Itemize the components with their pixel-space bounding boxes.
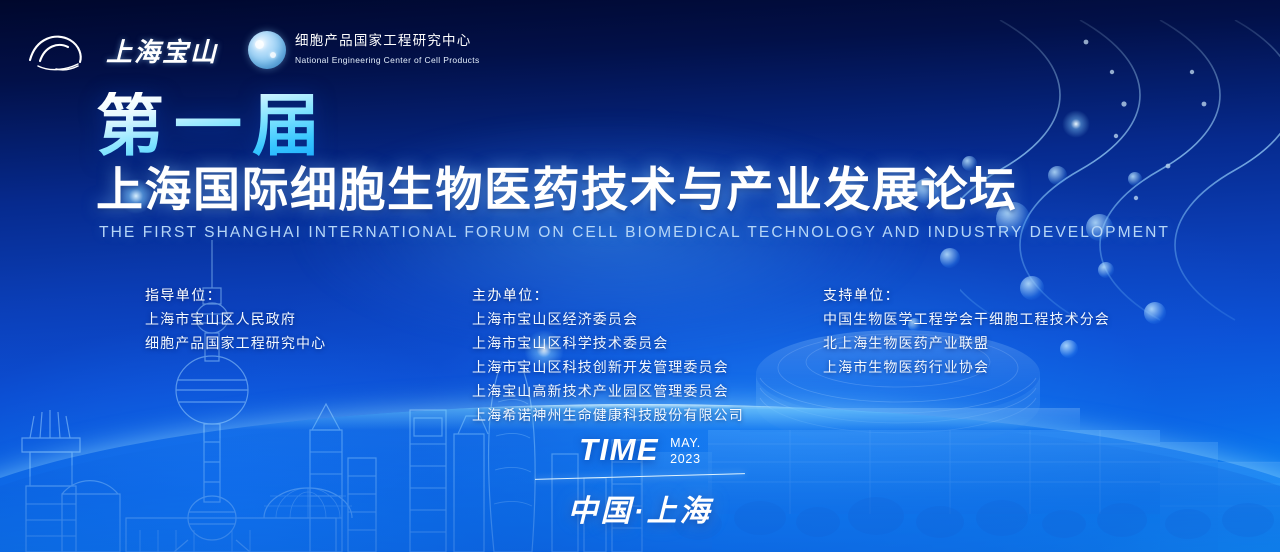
column-heading: 主办单位：	[472, 283, 744, 307]
org-item: 上海市宝山区科学技术委员会	[472, 331, 744, 355]
necc-logo-text-block: 细胞产品国家工程研究中心 National Engineering Center…	[295, 32, 480, 68]
org-item: 上海市宝山区人民政府	[145, 307, 326, 331]
event-date: MAY. 2023	[670, 435, 701, 467]
necc-logo: 细胞产品国家工程研究中心 National Engineering Center…	[248, 31, 480, 69]
org-item: 细胞产品国家工程研究中心	[145, 331, 326, 355]
org-item: 上海市宝山区经济委员会	[472, 307, 744, 331]
org-item: 上海希诺神州生命健康科技股份有限公司	[472, 403, 744, 427]
organizers-column: 主办单位： 上海市宝山区经济委员会 上海市宝山区科学技术委员会 上海市宝山区科技…	[472, 283, 744, 427]
logo-bar: 上海宝山 细胞产品国家工程研究中心 National Engineering C…	[26, 28, 480, 72]
guiding-units-column: 指导单位： 上海市宝山区人民政府 细胞产品国家工程研究中心	[145, 283, 326, 355]
edition-label: 第一届	[96, 92, 330, 160]
forum-title-en: THE FIRST SHANGHAI INTERNATIONAL FORUM O…	[99, 224, 1280, 242]
necc-name-cn: 细胞产品国家工程研究中心	[295, 33, 471, 48]
event-location: 中国·上海	[0, 486, 1280, 530]
supporting-units-column: 支持单位： 中国生物医学工程学会干细胞工程技术分会 北上海生物医药产业联盟 上海…	[823, 283, 1110, 379]
org-item: 北上海生物医药产业联盟	[823, 331, 1110, 355]
cell-sphere-icon	[248, 31, 286, 69]
event-month: MAY.	[670, 435, 701, 451]
org-item: 上海市宝山区科技创新开发管理委员会	[472, 355, 744, 379]
forum-title-cn: 上海国际细胞生物医药技术与产业发展论坛	[96, 166, 1280, 217]
baoshan-logo-text: 上海宝山	[106, 32, 218, 69]
divider-line	[535, 473, 745, 480]
headline-block: 第一届 上海国际细胞生物医药技术与产业发展论坛 THE FIRST SHANGH…	[0, 92, 1280, 242]
event-year: 2023	[670, 451, 701, 467]
conference-banner: 上海宝山 细胞产品国家工程研究中心 National Engineering C…	[0, 0, 1280, 552]
time-label: TIME	[579, 434, 659, 465]
arch-bridge-icon	[26, 28, 100, 72]
org-item: 上海市生物医药行业协会	[823, 355, 1110, 379]
column-heading: 指导单位：	[145, 283, 326, 307]
column-heading: 支持单位：	[823, 283, 1110, 307]
necc-name-en: National Engineering Center of Cell Prod…	[295, 55, 480, 65]
org-item: 上海宝山高新技术产业园区管理委员会	[472, 379, 744, 403]
baoshan-logo: 上海宝山	[26, 28, 218, 72]
org-item: 中国生物医学工程学会干细胞工程技术分会	[823, 307, 1110, 331]
event-time-block: TIME MAY. 2023 中国·上海	[0, 434, 1280, 530]
time-row: TIME MAY. 2023	[579, 434, 701, 467]
